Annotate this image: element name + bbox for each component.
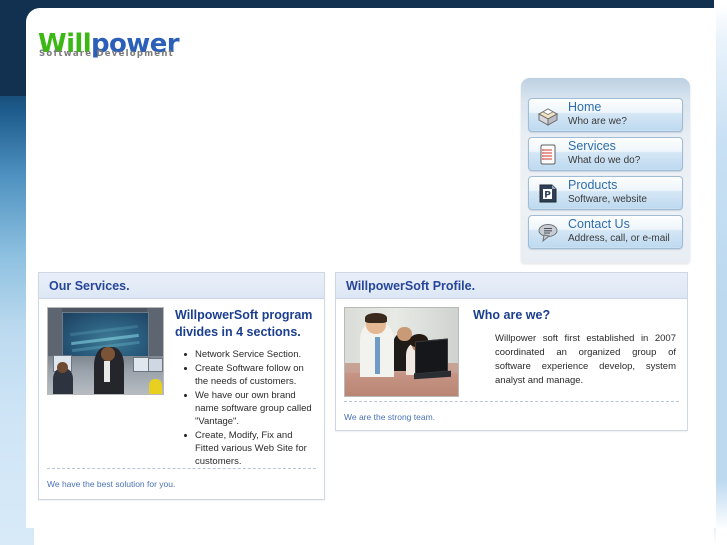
- profile-heading: Who are we?: [473, 307, 676, 323]
- nav-item-contact-us-subtitle: Address, call, or e-mail: [568, 232, 679, 245]
- panel-willpowersoft-profile: WillpowerSoft Profile.: [335, 272, 688, 431]
- nav-item-home-subtitle: Who are we?: [568, 115, 679, 128]
- services-footer-text: We have the best solution for you.: [47, 479, 175, 489]
- nav-item-home-title: Home: [568, 100, 679, 115]
- panel-our-services-footer: We have the best solution for you.: [47, 468, 316, 492]
- services-heading: WillpowerSoft program divides in 4 secti…: [175, 307, 315, 341]
- panel-profile-body: Who are we? Willpower soft first establi…: [336, 299, 687, 397]
- nav-item-services[interactable]: Services What do we do?: [528, 137, 683, 171]
- page-root: Willpower Software Development Home Who …: [0, 0, 727, 545]
- list-item: Network Service Section.: [195, 348, 315, 361]
- panel-our-services-header: Our Services.: [39, 273, 324, 299]
- home-box-icon: [536, 103, 560, 127]
- nav-item-list: Home Who are we?: [528, 98, 683, 254]
- panel-our-services-body: WillpowerSoft program divides in 4 secti…: [39, 299, 324, 469]
- nav-item-contact-us[interactable]: Contact Us Address, call, or e-mail: [528, 215, 683, 249]
- list-item: Create, Modify, Fix and Fitted various W…: [195, 429, 315, 468]
- services-photo: [47, 307, 164, 395]
- site-logo[interactable]: Willpower Software Development: [38, 31, 288, 71]
- nav-item-services-title: Services: [568, 139, 679, 154]
- nav-item-services-subtitle: What do we do?: [568, 154, 679, 167]
- nav-item-contact-us-title: Contact Us: [568, 217, 679, 232]
- services-bullet-list: Network Service Section. Create Software…: [175, 348, 315, 468]
- profile-footer-text: We are the strong team.: [344, 412, 435, 422]
- speech-bubble-icon: [536, 220, 560, 244]
- profile-paragraph: Willpower soft first established in 2007…: [473, 332, 676, 388]
- content-panels: Our Services.: [38, 272, 690, 502]
- panel-our-services-title: Our Services.: [49, 279, 130, 293]
- panel-profile-footer: We are the strong team.: [344, 401, 679, 425]
- nav-item-products-text: Products Software, website: [568, 178, 679, 206]
- list-item: We have our own brand name software grou…: [195, 389, 315, 428]
- profile-text-block: Who are we? Willpower soft first establi…: [473, 307, 678, 388]
- nav-item-home[interactable]: Home Who are we?: [528, 98, 683, 132]
- services-text-block: WillpowerSoft program divides in 4 secti…: [175, 307, 315, 469]
- product-p-icon: P: [536, 181, 560, 205]
- panel-profile-header: WillpowerSoft Profile.: [336, 273, 687, 299]
- nav-item-home-text: Home Who are we?: [568, 100, 679, 128]
- nav-item-services-text: Services What do we do?: [568, 139, 679, 167]
- nav-item-products-subtitle: Software, website: [568, 193, 679, 206]
- svg-text:P: P: [544, 191, 551, 201]
- main-navigation-panel: Home Who are we?: [521, 78, 690, 263]
- list-item: Create Software follow on the needs of c…: [195, 362, 315, 388]
- clipboard-list-icon: [536, 142, 560, 166]
- profile-photo: [344, 307, 459, 397]
- logo-tagline: Software Development: [39, 49, 174, 59]
- nav-item-products-title: Products: [568, 178, 679, 193]
- panel-profile-title: WillpowerSoft Profile.: [346, 279, 475, 293]
- nav-item-products[interactable]: P Products Software, website: [528, 176, 683, 210]
- panel-our-services: Our Services.: [38, 272, 325, 500]
- nav-item-contact-us-text: Contact Us Address, call, or e-mail: [568, 217, 679, 245]
